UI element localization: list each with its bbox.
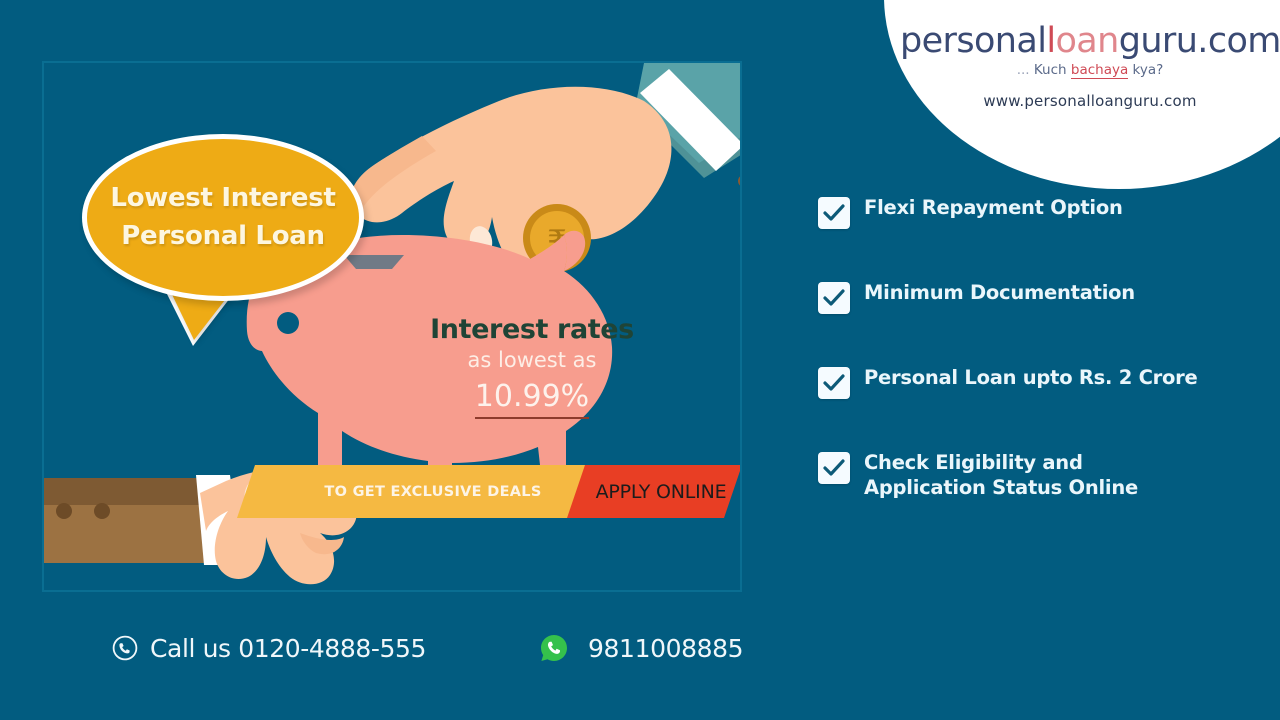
feature-list: Flexi Repayment Option Minimum Documenta… [818,196,1258,500]
whatsapp-icon [539,633,569,663]
checkbox-checked-icon[interactable] [818,367,850,399]
logo-tagline: ... Kuch bachaya kya? [900,62,1280,78]
phone-circle-icon [112,635,138,661]
tagline-dots: ... [1017,62,1030,78]
feature-label-multiline: Check Eligibility and Application Status… [864,451,1138,500]
tagline-kya: kya? [1133,62,1164,78]
illustration-panel: ₹ Interest rates [42,61,742,592]
checkbox-checked-icon[interactable] [818,452,850,484]
feature-item: Minimum Documentation [818,281,1258,314]
bottom-sleeve-dark [44,478,204,505]
feature-item: Flexi Repayment Option [818,196,1258,229]
phone-number-label: Call us 0120-4888-555 [150,634,426,663]
checkbox-checked-icon[interactable] [818,282,850,314]
logo-text-personal: personal [900,21,1046,61]
whatsapp-contact[interactable]: 9811008885 [539,633,743,663]
checkbox-checked-icon[interactable] [818,197,850,229]
exclusive-deals-label: TO GET EXCLUSIVE DEALS [263,465,603,518]
check-mark-icon [823,373,845,393]
feature-label-line-1: Check Eligibility and [864,451,1138,476]
speech-bubble-text: Lowest Interest Personal Loan [87,139,359,296]
bubble-line-1: Lowest Interest [110,180,335,218]
bottom-sleeve-button-2 [94,503,110,519]
speech-bubble: Lowest Interest Personal Loan [82,134,364,301]
check-mark-icon [823,288,845,308]
logo-wordmark: personalloanguru.com [900,24,1280,59]
top-sleeve-button [738,175,742,187]
check-mark-icon [823,458,845,478]
tagline-kuch: Kuch [1034,62,1067,78]
interest-rate-value: 10.99% [475,378,589,419]
interest-rates-subheading: as lowest as [407,346,657,376]
interest-rates-heading: Interest rates [407,315,657,345]
check-mark-icon [823,203,845,223]
feature-item: Personal Loan upto Rs. 2 Crore [818,366,1258,399]
logo-text-guru: guru.com [1119,21,1280,61]
feature-label: Minimum Documentation [864,281,1135,306]
contact-bar: Call us 0120-4888-555 9811008885 [112,633,743,663]
feature-label-line-2: Application Status Online [864,476,1138,501]
whatsapp-number-label: 9811008885 [588,634,743,663]
piggy-bank-eye [277,312,299,334]
advertisement-banner: personalloanguru.com ... Kuch bachaya ky… [0,0,1280,720]
bubble-line-2: Personal Loan [121,218,324,256]
brand-logo[interactable]: personalloanguru.com ... Kuch bachaya ky… [900,24,1280,110]
website-url[interactable]: www.personalloanguru.com [900,92,1280,110]
apply-online-button[interactable]: APPLY ONLINE [575,465,742,518]
logo-text-oan: oan [1055,21,1118,61]
feature-label: Personal Loan upto Rs. 2 Crore [864,366,1198,391]
interest-rate-block: Interest rates as lowest as 10.99% [407,315,657,419]
tagline-bachaya: bachaya [1071,62,1128,79]
feature-item: Check Eligibility and Application Status… [818,451,1258,500]
bottom-sleeve-button-1 [56,503,72,519]
feature-label: Flexi Repayment Option [864,196,1123,221]
phone-contact[interactable]: Call us 0120-4888-555 [112,634,426,663]
